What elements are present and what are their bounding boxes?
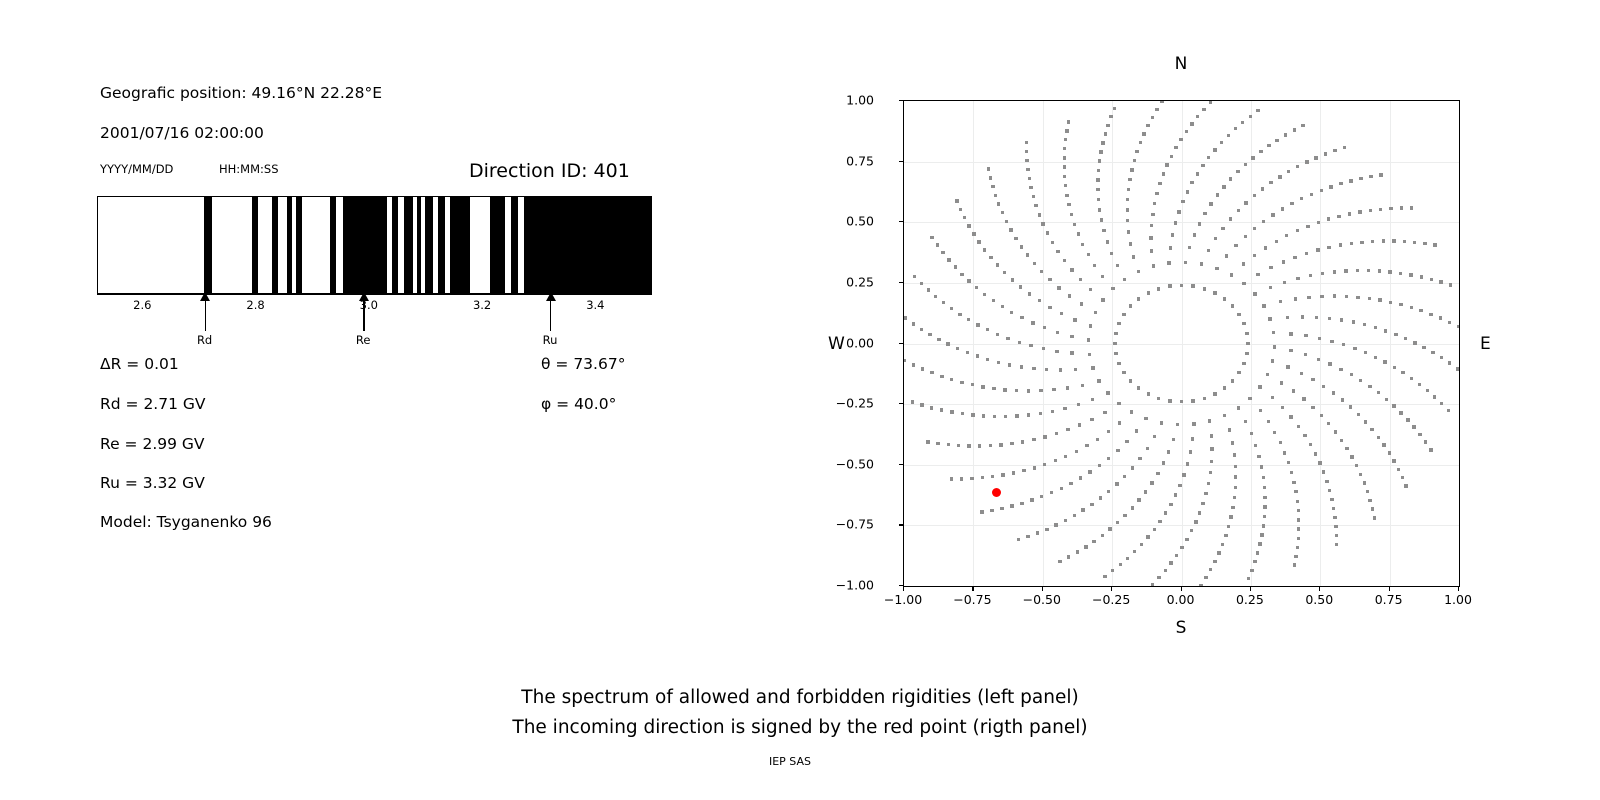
direction-dot xyxy=(1379,208,1382,211)
direction-dot xyxy=(913,275,916,278)
direction-dot xyxy=(1088,470,1091,473)
direction-dot xyxy=(1027,389,1030,392)
x-axis-tick-mark xyxy=(1250,587,1251,591)
direction-dot xyxy=(1089,288,1092,291)
forbidden-band xyxy=(392,197,398,293)
direction-dot xyxy=(1070,351,1073,354)
direction-dot xyxy=(1358,210,1361,213)
direction-dot xyxy=(1244,163,1247,166)
direction-dot xyxy=(1169,561,1172,564)
direction-dot xyxy=(1258,542,1261,545)
direction-dot xyxy=(1340,439,1343,442)
direction-dot xyxy=(1304,334,1307,337)
direction-dot xyxy=(1028,292,1031,295)
spectrum-x-axis: 2.62.83.03.23.4RdReRu xyxy=(97,294,652,350)
direction-dot xyxy=(1410,306,1413,309)
direction-dot xyxy=(1368,385,1371,388)
forbidden-band xyxy=(404,197,413,293)
direction-dot xyxy=(942,301,945,304)
direction-dot xyxy=(1151,116,1154,119)
direction-dot xyxy=(1221,543,1224,546)
direction-dot xyxy=(1074,368,1077,371)
direction-dot xyxy=(1384,329,1387,332)
direction-dot xyxy=(1070,213,1073,216)
direction-dot xyxy=(1275,240,1278,243)
direction-dot xyxy=(1310,193,1313,196)
direction-dot xyxy=(1026,253,1029,256)
y-axis-tick-mark xyxy=(899,343,903,344)
direction-dot xyxy=(1150,481,1153,484)
direction-dot xyxy=(1020,502,1023,505)
direction-dot xyxy=(1073,514,1076,517)
geographic-position-label: Geografic position: 49.16°N 22.28°E xyxy=(100,84,382,102)
direction-dot xyxy=(1101,298,1104,301)
x-axis-tick-mark xyxy=(903,587,904,591)
direction-dot xyxy=(947,258,950,261)
direction-dot xyxy=(1149,236,1152,239)
direction-dot xyxy=(1042,347,1045,350)
direction-dot xyxy=(1185,130,1188,133)
direction-dot xyxy=(1301,315,1304,318)
direction-dot xyxy=(1301,124,1304,127)
y-axis-tick-mark xyxy=(899,585,903,586)
direction-dot xyxy=(1099,496,1102,499)
y-axis-tick-label: 0.25 xyxy=(846,274,874,289)
x-axis-tick-label: −0.25 xyxy=(1092,592,1130,607)
direction-dot xyxy=(1426,389,1429,392)
direction-dot xyxy=(1040,495,1043,498)
direction-dot xyxy=(967,444,970,447)
direction-dot xyxy=(1155,108,1158,111)
direction-dot xyxy=(950,410,953,413)
direction-dot xyxy=(1114,352,1117,355)
direction-dot xyxy=(1098,208,1101,211)
direction-dot xyxy=(1356,296,1359,299)
direction-dot xyxy=(1393,366,1396,369)
direction-dot xyxy=(1201,502,1204,505)
direction-dot xyxy=(1190,122,1193,125)
direction-dot xyxy=(1431,351,1434,354)
direction-dot xyxy=(967,224,970,227)
direction-dot xyxy=(1419,309,1422,312)
direction-dot xyxy=(960,477,963,480)
compass-label-east: E xyxy=(1480,334,1491,354)
direction-dot xyxy=(1144,490,1147,493)
direction-dot xyxy=(1116,449,1119,452)
direction-dot xyxy=(986,358,989,361)
direction-dot xyxy=(970,477,973,480)
direction-dot xyxy=(1032,438,1035,441)
forbidden-band xyxy=(272,197,278,293)
direction-dot xyxy=(1060,312,1063,315)
direction-dot xyxy=(1368,297,1371,300)
direction-dot xyxy=(1113,107,1116,110)
direction-dot xyxy=(1132,255,1135,258)
direction-dot xyxy=(1070,268,1073,271)
direction-dot xyxy=(1304,353,1307,356)
direction-dot xyxy=(1377,436,1380,439)
direction-dot xyxy=(1413,341,1416,344)
direction-dot xyxy=(1178,484,1181,487)
direction-dot xyxy=(1207,249,1210,252)
direction-dot xyxy=(1349,179,1352,182)
direction-dot xyxy=(1286,365,1289,368)
direction-dot xyxy=(981,385,984,388)
direction-dot xyxy=(1144,417,1147,420)
direction-dot xyxy=(1076,550,1079,553)
direction-dot xyxy=(1146,535,1149,538)
direction-dot xyxy=(989,256,992,259)
direction-dot xyxy=(1294,555,1297,558)
direction-dot xyxy=(978,444,981,447)
direction-dot xyxy=(1399,303,1402,306)
direction-dot xyxy=(1022,469,1025,472)
direction-dot xyxy=(1122,313,1125,316)
direction-dot xyxy=(1203,287,1206,290)
direction-dot xyxy=(1383,360,1386,363)
direction-dot xyxy=(991,185,994,188)
direction-dot xyxy=(1403,240,1406,243)
direction-dot xyxy=(1262,476,1265,479)
direction-dot xyxy=(1429,448,1432,451)
direction-dot xyxy=(1256,273,1259,276)
direction-dot xyxy=(1399,272,1402,275)
direction-dot xyxy=(1327,246,1330,249)
direction-dot xyxy=(1318,337,1321,340)
direction-dot xyxy=(1269,181,1272,184)
direction-dot xyxy=(1399,411,1402,414)
direction-dot xyxy=(1184,261,1187,264)
param-right-0: θ = 73.67° xyxy=(541,355,625,373)
direction-dot xyxy=(1236,170,1239,173)
direction-dot xyxy=(1373,516,1376,519)
direction-dot xyxy=(1290,202,1293,205)
direction-dot xyxy=(920,328,923,331)
x-axis-tick-mark xyxy=(1458,587,1459,591)
direction-dot xyxy=(1067,203,1070,206)
direction-dot xyxy=(1328,317,1331,320)
direction-dot xyxy=(1077,232,1080,235)
direction-dot xyxy=(1302,397,1305,400)
direction-dot xyxy=(1031,321,1034,324)
direction-dot xyxy=(1439,280,1442,283)
direction-dot xyxy=(1237,313,1240,316)
direction-dot xyxy=(967,318,970,321)
direction-dot xyxy=(1216,193,1219,196)
direction-dot xyxy=(1269,266,1272,269)
x-axis-tick-label: −0.75 xyxy=(953,592,991,607)
direction-dot xyxy=(1420,275,1423,278)
direction-dot xyxy=(1025,150,1028,153)
direction-dot xyxy=(1430,278,1433,281)
direction-dot xyxy=(1334,525,1337,528)
direction-dot xyxy=(1334,430,1337,433)
direction-dot xyxy=(947,443,950,446)
direction-dot xyxy=(1287,170,1290,173)
direction-dot xyxy=(1180,284,1183,287)
direction-dot xyxy=(1150,224,1153,227)
direction-dot xyxy=(1111,569,1114,572)
forbidden-band xyxy=(296,197,302,293)
direction-dot xyxy=(1033,466,1036,469)
forbidden-band xyxy=(330,197,336,293)
direction-dot xyxy=(1198,511,1201,514)
compass-label-west: W xyxy=(828,334,845,354)
direction-dot xyxy=(1127,188,1130,191)
direction-dot xyxy=(961,412,964,415)
direction-dot xyxy=(1157,287,1160,290)
direction-dot xyxy=(1449,283,1452,286)
direction-dot xyxy=(1186,462,1189,465)
direction-dot xyxy=(1401,371,1404,374)
direction-dot xyxy=(1448,321,1451,324)
direction-dot xyxy=(1231,379,1234,382)
direction-dot xyxy=(936,243,939,246)
param-left-1: Rd = 2.71 GV xyxy=(100,395,206,413)
direction-dot xyxy=(1368,499,1371,502)
direction-dot xyxy=(1345,295,1348,298)
direction-dot xyxy=(1001,305,1004,308)
direction-dot xyxy=(1118,421,1121,424)
direction-dot xyxy=(1348,212,1351,215)
direction-dot xyxy=(1292,389,1295,392)
direction-dot xyxy=(1063,147,1066,150)
direction-dot xyxy=(1209,568,1212,571)
direction-dot xyxy=(972,232,975,235)
direction-dot xyxy=(1098,464,1101,467)
direction-dot xyxy=(1101,275,1104,278)
direction-dot xyxy=(1260,465,1263,468)
direction-dot xyxy=(1113,342,1116,345)
direction-dot xyxy=(1093,264,1096,267)
direction-dot xyxy=(1457,325,1460,328)
direction-dot xyxy=(1097,169,1100,172)
direction-dot xyxy=(1418,383,1421,386)
y-axis-tick-mark xyxy=(899,464,903,465)
direction-dot xyxy=(1241,121,1244,124)
y-axis-tick-mark xyxy=(899,282,903,283)
direction-dot xyxy=(1234,465,1237,468)
x-axis-tick-label: 0.50 xyxy=(1305,592,1333,607)
direction-dot xyxy=(1369,175,1372,178)
direction-dot xyxy=(1355,464,1358,467)
direction-dot xyxy=(1046,231,1049,234)
direction-dot xyxy=(1335,534,1338,537)
direction-dot xyxy=(1063,407,1066,410)
direction-dot xyxy=(1157,397,1160,400)
direction-dot xyxy=(977,240,980,243)
direction-dot xyxy=(1227,134,1230,137)
direction-dot xyxy=(1200,262,1203,265)
direction-dot xyxy=(1081,243,1084,246)
direction-dot xyxy=(1296,165,1299,168)
param-right-1: φ = 40.0° xyxy=(541,395,616,413)
direction-dot xyxy=(1000,507,1003,510)
axis-line xyxy=(97,294,652,295)
direction-dot xyxy=(1363,323,1366,326)
direction-dot xyxy=(1297,425,1300,428)
direction-dot xyxy=(1341,398,1344,401)
direction-dot xyxy=(1229,217,1232,220)
direction-dot xyxy=(950,378,953,381)
direction-dot xyxy=(980,510,983,513)
direction-dot xyxy=(1127,230,1130,233)
direction-dot xyxy=(1160,100,1163,103)
direction-dot xyxy=(1167,450,1170,453)
direction-dot xyxy=(1363,481,1366,484)
direction-dot xyxy=(1087,338,1090,341)
direction-dot xyxy=(1237,406,1240,409)
direction-dot xyxy=(1089,324,1092,327)
direction-dot xyxy=(1020,245,1023,248)
direction-dot xyxy=(1039,412,1042,415)
direction-dot xyxy=(1296,277,1299,280)
date-format-hint: YYYY/MM/DD xyxy=(100,162,173,176)
direction-dot xyxy=(971,383,974,386)
y-axis-tick-mark xyxy=(899,524,903,525)
direction-dot xyxy=(1199,584,1202,587)
direction-dot xyxy=(1397,468,1400,471)
direction-dot xyxy=(986,328,989,331)
direction-dot xyxy=(1092,540,1095,543)
direction-dot xyxy=(1221,227,1224,230)
direction-dot xyxy=(1433,243,1436,246)
direction-dot xyxy=(1374,356,1377,359)
direction-dot xyxy=(1180,546,1183,549)
direction-dot xyxy=(996,333,999,336)
direction-dot xyxy=(1106,124,1109,127)
direction-dot xyxy=(1003,271,1006,274)
direction-dot xyxy=(1230,273,1233,276)
direction-dot xyxy=(1059,368,1062,371)
direction-dot xyxy=(1188,246,1191,249)
direction-dot xyxy=(1360,241,1363,244)
direction-dot xyxy=(1382,443,1385,446)
direction-dot xyxy=(1146,447,1149,450)
direction-dot xyxy=(1050,491,1053,494)
direction-dot xyxy=(941,251,944,254)
forbidden-band xyxy=(511,197,518,293)
direction-dot xyxy=(1320,189,1323,192)
direction-dot xyxy=(1137,386,1140,389)
direction-dot xyxy=(1271,396,1274,399)
direction-dot xyxy=(1142,132,1145,135)
direction-dot xyxy=(1064,519,1067,522)
direction-dot xyxy=(1389,301,1392,304)
direction-dot xyxy=(1263,486,1266,489)
direction-dot xyxy=(1097,198,1100,201)
direction-dot xyxy=(1234,486,1237,489)
direction-dot xyxy=(1045,528,1048,531)
direction-dot xyxy=(1094,311,1097,314)
forbidden-band xyxy=(287,197,292,293)
direction-dot xyxy=(1001,473,1004,476)
direction-dot xyxy=(1223,297,1226,300)
direction-dot xyxy=(1119,563,1122,566)
direction-dot xyxy=(1085,444,1088,447)
direction-dot xyxy=(927,288,930,291)
direction-dot xyxy=(946,342,949,345)
direction-dot xyxy=(1259,150,1262,153)
direction-dot xyxy=(1107,490,1110,493)
direction-dot xyxy=(926,440,929,443)
direction-dot xyxy=(1266,373,1269,376)
direction-dot xyxy=(982,414,985,417)
direction-dot xyxy=(1322,470,1325,473)
direction-dot xyxy=(1117,362,1120,365)
direction-dot xyxy=(1222,185,1225,188)
direction-dot xyxy=(1284,133,1287,136)
forbidden-band xyxy=(343,197,387,293)
direction-dot xyxy=(1447,409,1450,412)
direction-dot xyxy=(966,351,969,354)
direction-dot xyxy=(1293,563,1296,566)
direction-dot xyxy=(1073,318,1076,321)
direction-dot xyxy=(1162,172,1165,175)
x-axis-tick-mark xyxy=(1111,587,1112,591)
direction-dot xyxy=(1081,508,1084,511)
direction-dot xyxy=(1237,209,1240,212)
direction-dot xyxy=(1345,447,1348,450)
direction-dot xyxy=(1316,248,1319,251)
direction-dot xyxy=(999,443,1002,446)
direction-dot xyxy=(1065,129,1068,132)
direction-dot xyxy=(1392,239,1395,242)
direction-dot xyxy=(1330,498,1333,501)
direction-dot xyxy=(1051,410,1054,413)
direction-dot xyxy=(1150,249,1153,252)
direction-dot xyxy=(1278,175,1281,178)
direction-dot xyxy=(1191,284,1194,287)
direction-dot xyxy=(1263,505,1266,508)
direction-dot xyxy=(1279,300,1282,303)
direction-dot xyxy=(1079,278,1082,281)
direction-dot xyxy=(1392,459,1395,462)
direction-dot xyxy=(1429,313,1432,316)
direction-dot xyxy=(992,299,995,302)
forbidden-band xyxy=(438,197,445,293)
direction-dot xyxy=(1066,428,1069,431)
direction-dot xyxy=(1314,156,1317,159)
direction-dot xyxy=(937,338,940,341)
direction-dot xyxy=(1253,560,1256,563)
direction-dot xyxy=(1250,569,1253,572)
direction-dot xyxy=(1210,447,1213,450)
y-axis-tick-mark xyxy=(899,100,903,101)
direction-dot xyxy=(1244,201,1247,204)
direction-dot xyxy=(1117,402,1120,405)
direction-dot xyxy=(1103,411,1106,414)
direction-dot xyxy=(1229,177,1232,180)
direction-dot xyxy=(1213,148,1216,151)
direction-dot xyxy=(1167,261,1170,264)
gridline-horizontal xyxy=(904,465,1459,466)
direction-dot xyxy=(1401,476,1404,479)
direction-dot xyxy=(1371,507,1374,510)
direction-dot xyxy=(1333,149,1336,152)
gridline-horizontal xyxy=(904,222,1459,223)
spectrum-tick-label: 2.8 xyxy=(246,298,264,312)
direction-dot xyxy=(1364,420,1367,423)
direction-dot xyxy=(1324,152,1327,155)
param-left-2: Re = 2.99 GV xyxy=(100,435,205,453)
direction-dot xyxy=(1058,560,1061,563)
direction-dot xyxy=(1300,197,1303,200)
direction-dot xyxy=(1317,358,1320,361)
direction-dot xyxy=(1026,168,1029,171)
direction-dot xyxy=(1237,371,1240,374)
caption-line-1: The spectrum of allowed and forbidden ri… xyxy=(521,687,1078,708)
